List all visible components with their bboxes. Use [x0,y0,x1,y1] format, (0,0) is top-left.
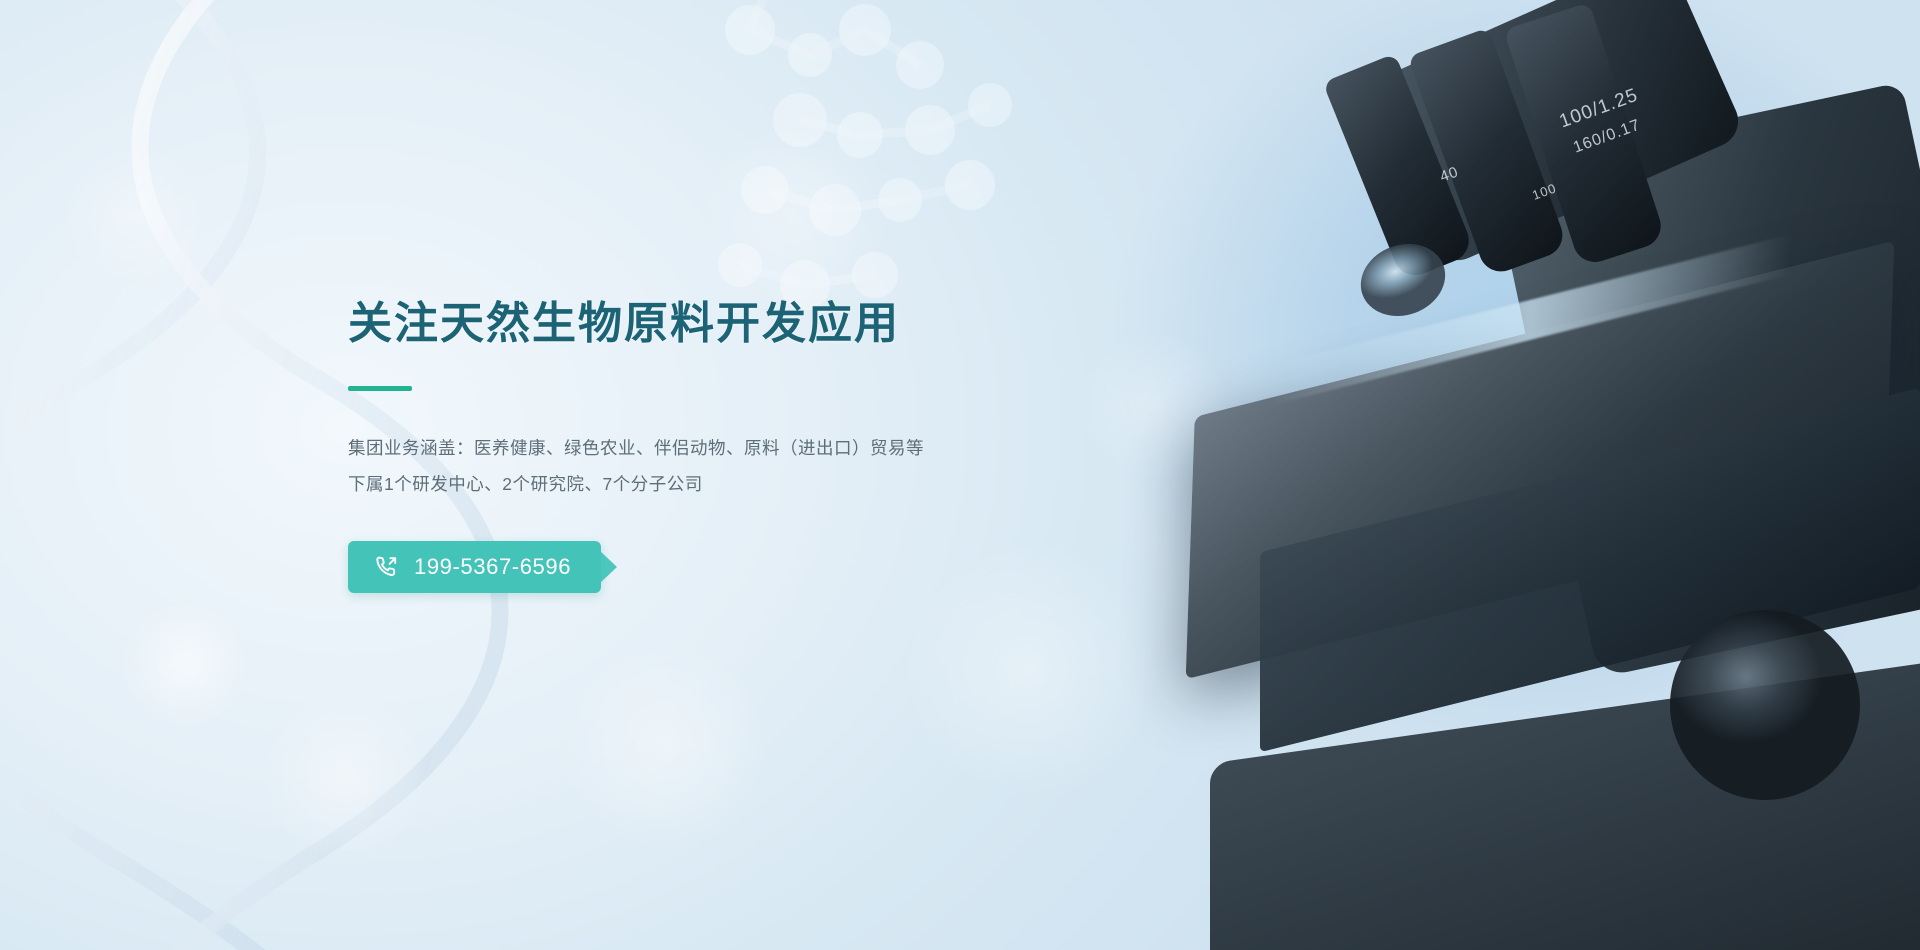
phone-number-label: 199-5367-6596 [414,554,571,580]
cta-arrow-notch [599,550,617,584]
hero-banner: 100/1.25 160/0.17 40 100 关注天然生物原料开发应用 集团… [0,0,1920,950]
phone-forward-icon [374,554,400,580]
cta-container: 199-5367-6596 [348,541,601,593]
microscope-focus-knob [1670,610,1860,800]
description-line-1: 集团业务涵盖：医养健康、绿色农业、伴侣动物、原料（进出口）贸易等 [348,431,1108,467]
microscope-graphic: 100/1.25 160/0.17 40 100 [1060,0,1920,950]
title-divider [348,386,412,391]
phone-call-button[interactable]: 199-5367-6596 [348,541,601,593]
description-line-2: 下属1个研发中心、2个研究院、7个分子公司 [348,467,1108,503]
page-title: 关注天然生物原料开发应用 [348,300,1108,348]
hero-content: 关注天然生物原料开发应用 集团业务涵盖：医养健康、绿色农业、伴侣动物、原料（进出… [348,300,1108,593]
hero-description: 集团业务涵盖：医养健康、绿色农业、伴侣动物、原料（进出口）贸易等 下属1个研发中… [348,431,1108,503]
